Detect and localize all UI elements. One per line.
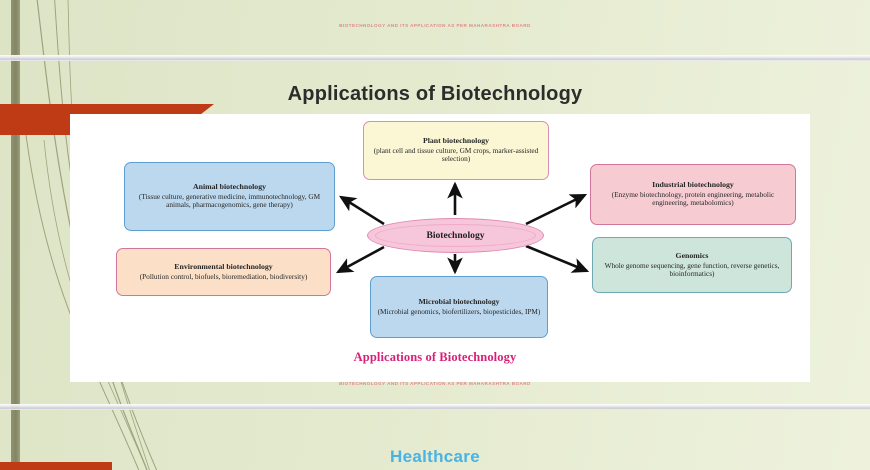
node-title: Plant biotechnology [369,137,543,146]
slide-header-text: BIOTECHNOLOGY AND ITS APPLICATION AS PER… [0,23,870,28]
page-title: Applications of Biotechnology [0,83,870,106]
node-detail: (Microbial genomics, biofertilizers, bio… [376,308,542,316]
divider-top [0,55,870,61]
node-detail: Whole genome sequencing, gene function, … [598,262,786,278]
node-animal-biotechnology[interactable]: Animal biotechnology (Tissue culture, ge… [124,162,335,231]
node-environmental-biotechnology[interactable]: Environmental biotechnology (Pollution c… [116,248,331,296]
node-microbial-biotechnology[interactable]: Microbial biotechnology (Microbial genom… [370,276,548,338]
node-title: Microbial biotechnology [376,298,542,307]
node-genomics[interactable]: Genomics Whole genome sequencing, gene f… [592,237,792,293]
center-node-label: Biotechnology [426,230,484,241]
node-title: Genomics [598,252,786,261]
diagram-caption: Applications of Biotechnology [0,350,870,365]
slide-canvas: BIOTECHNOLOGY AND ITS APPLICATION AS PER… [0,0,870,470]
slide-footer-text: BIOTECHNOLOGY AND ITS APPLICATION AS PER… [0,381,870,386]
node-detail: (Tissue culture, generative medicine, im… [130,193,329,209]
node-industrial-biotechnology[interactable]: Industrial biotechnology (Enzyme biotech… [590,164,796,225]
node-plant-biotechnology[interactable]: Plant biotechnology (plant cell and tiss… [363,121,549,180]
next-section-heading: Healthcare [0,447,870,467]
node-title: Environmental biotechnology [122,263,325,272]
node-detail: (Enzyme biotechnology, protein engineeri… [596,191,790,207]
node-title: Industrial biotechnology [596,181,790,190]
center-node-biotechnology[interactable]: Biotechnology [367,218,544,253]
divider-bottom [0,404,870,410]
node-detail: (Pollution control, biofuels, bioremedia… [122,273,325,281]
olive-vertical-bar [11,0,20,470]
node-title: Animal biotechnology [130,183,329,192]
node-detail: (plant cell and tissue culture, GM crops… [369,147,543,163]
